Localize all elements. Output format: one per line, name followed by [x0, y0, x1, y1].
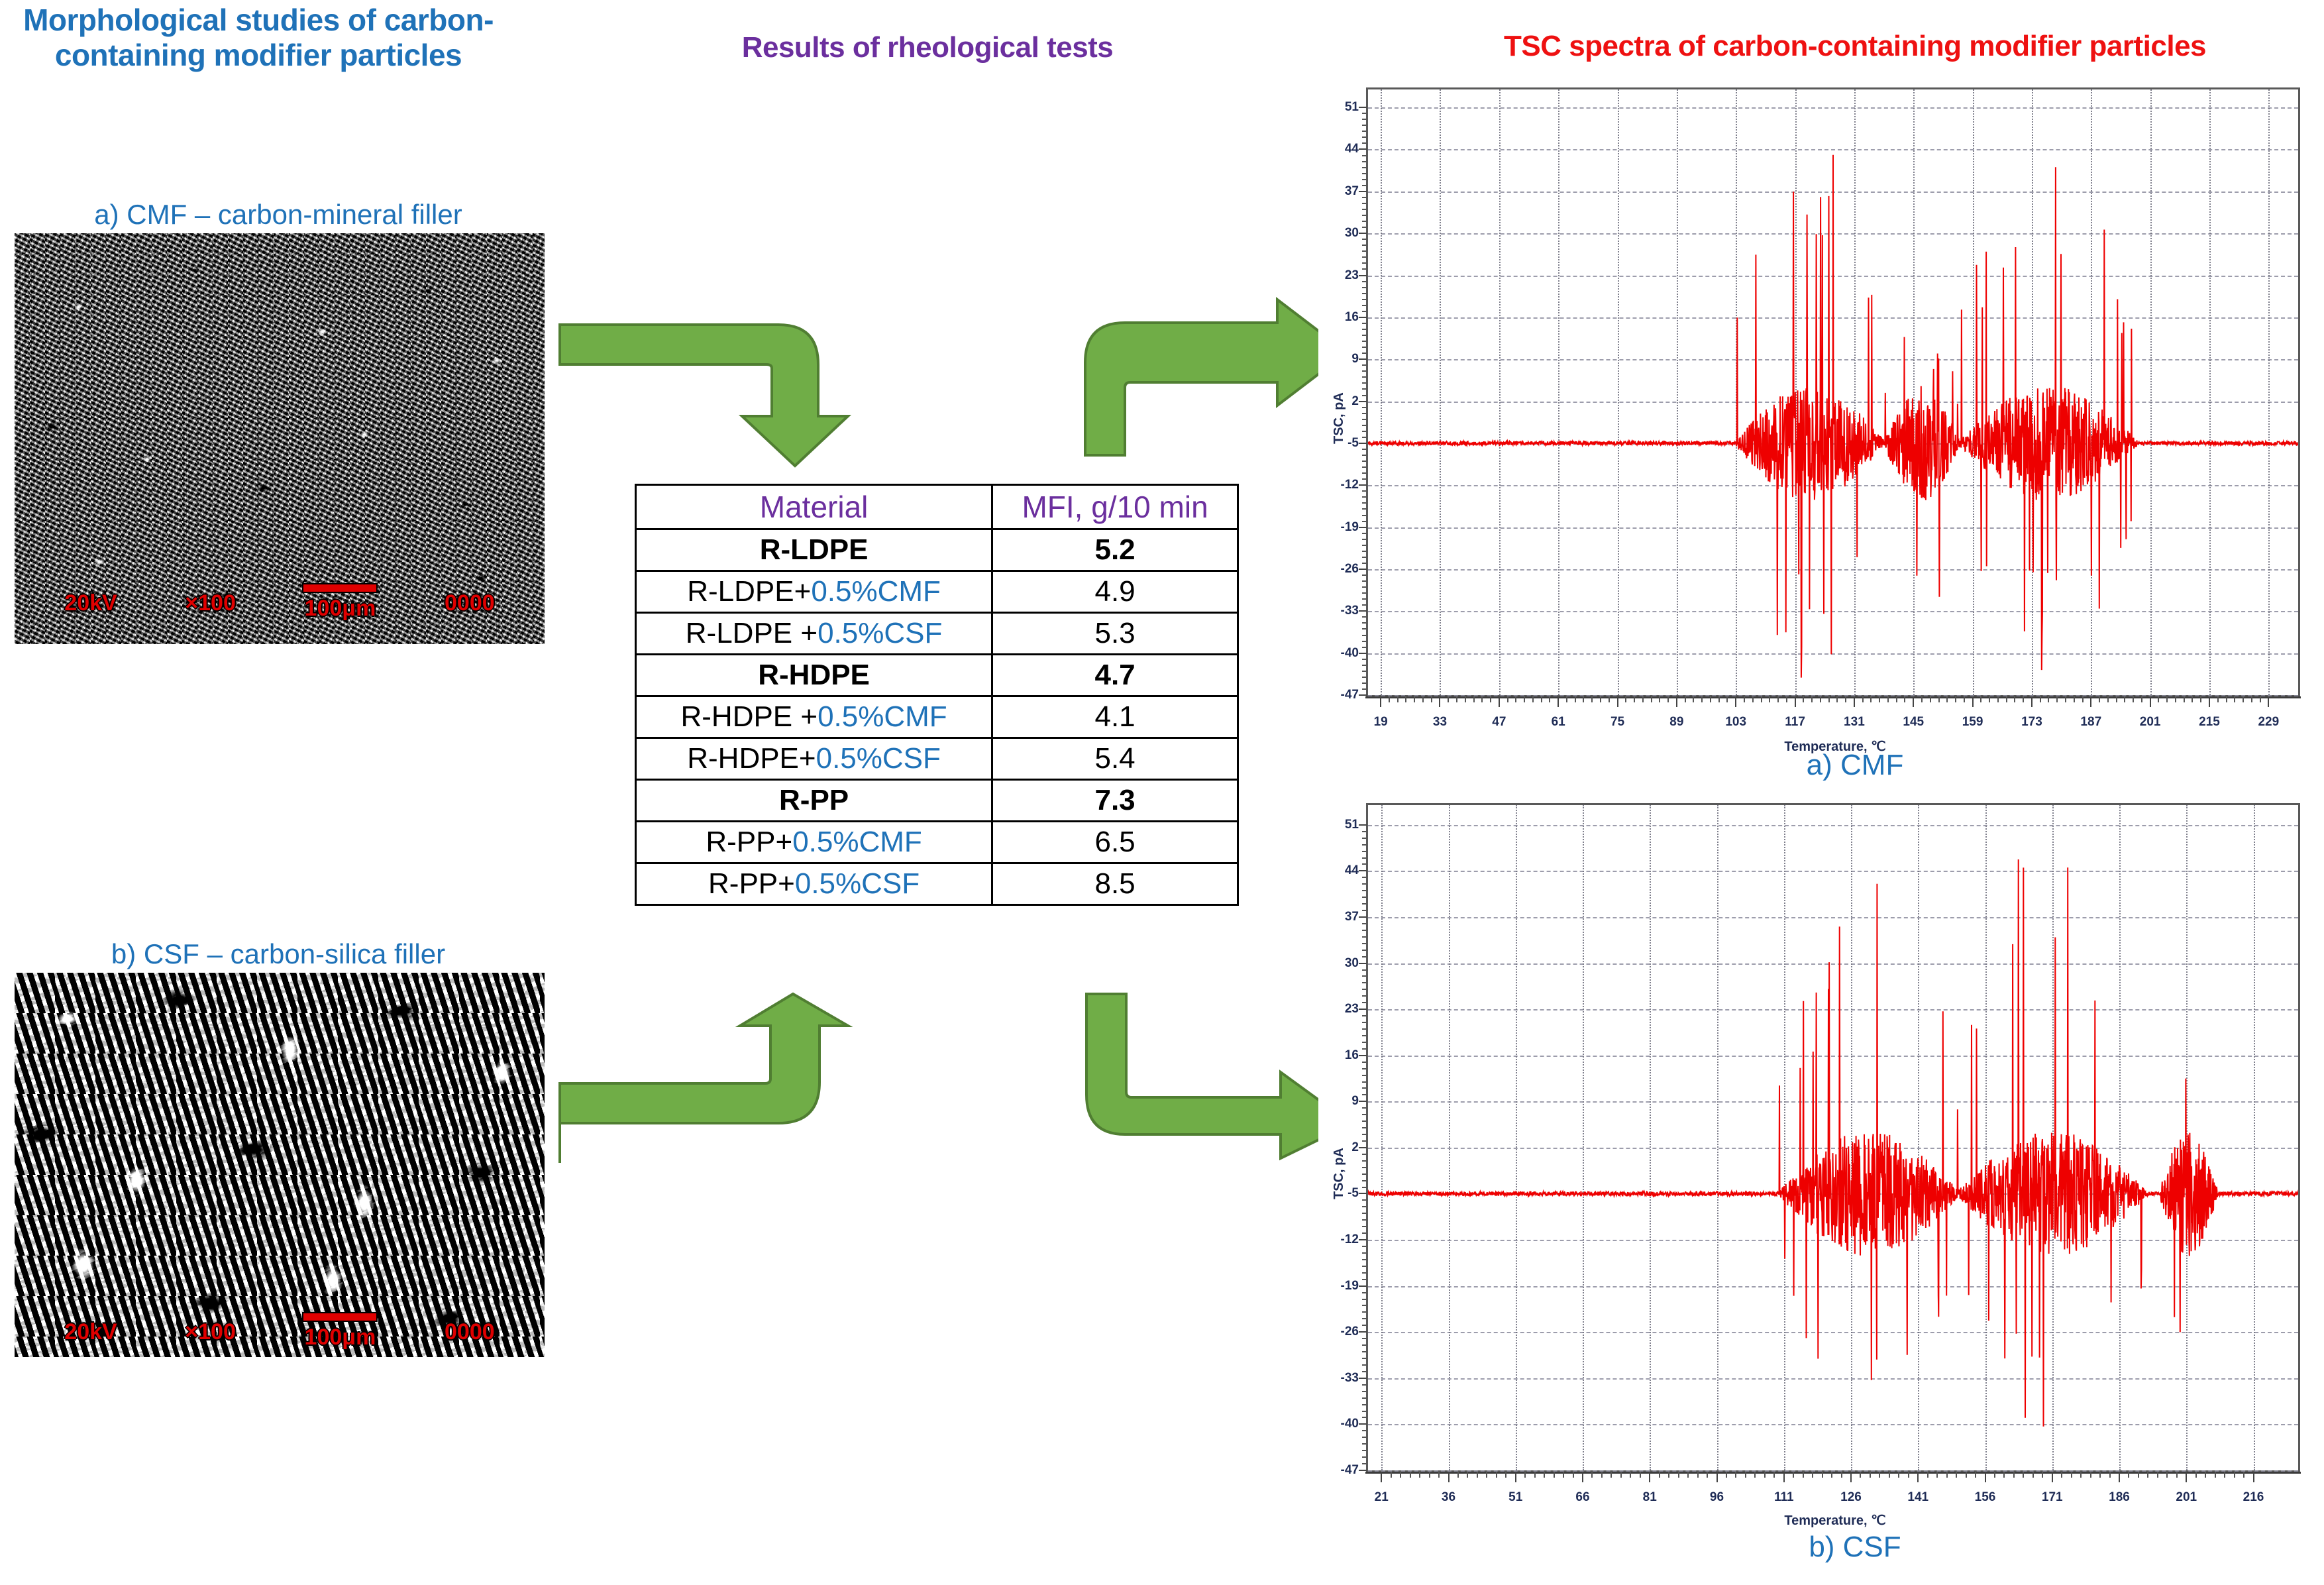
- y-tick-mark: [1359, 963, 1367, 964]
- arrow-table-to-cmf-spectrum: [1079, 300, 1350, 459]
- x-minor-tick: [2251, 696, 2252, 702]
- y-tick-label: 2: [1351, 394, 1359, 409]
- sem-magnification-label: ×100: [185, 1319, 236, 1345]
- x-tick-label: 126: [1840, 1490, 1862, 1505]
- y-tick-label: -40: [1341, 1417, 1359, 1431]
- x-minor-tick: [1422, 696, 1424, 702]
- y-tick-label: 37: [1345, 184, 1359, 199]
- x-minor-tick: [1745, 1472, 1746, 1478]
- x-minor-tick: [2013, 1472, 2015, 1478]
- y-minor-tick: [1362, 496, 1367, 498]
- y-minor-tick: [1362, 245, 1367, 246]
- x-minor-tick: [1431, 696, 1432, 702]
- cell-material: R-PP+0.5%CSF: [636, 863, 992, 905]
- cell-mfi-value: 8.5: [992, 863, 1238, 905]
- x-minor-tick: [2065, 696, 2066, 702]
- table-row: R-LDPE5.2: [636, 529, 1238, 571]
- x-minor-tick: [2040, 696, 2041, 702]
- y-minor-tick: [1362, 1107, 1367, 1109]
- x-minor-tick: [1429, 1472, 1430, 1478]
- x-minor-tick: [1904, 696, 1905, 702]
- x-tick-mark: [1783, 1472, 1785, 1482]
- x-tick-mark: [1649, 1472, 1650, 1482]
- y-minor-tick: [1362, 1252, 1367, 1254]
- y-minor-tick: [1362, 1371, 1367, 1372]
- y-tick-label: -5: [1347, 1186, 1359, 1201]
- y-minor-tick: [1362, 1311, 1367, 1313]
- x-minor-tick: [2107, 696, 2109, 702]
- x-tick-mark: [2031, 696, 2033, 707]
- x-minor-tick: [1414, 696, 1415, 702]
- y-minor-tick: [1362, 515, 1367, 516]
- x-tick-mark: [1439, 696, 1440, 707]
- y-minor-tick: [1362, 1075, 1367, 1076]
- x-minor-tick: [1726, 696, 1728, 702]
- y-tick-mark: [1359, 694, 1367, 696]
- x-minor-tick: [1465, 696, 1466, 702]
- table-row: R-HDPE +0.5%CMF4.1: [636, 696, 1238, 738]
- y-tick-mark: [1359, 569, 1367, 570]
- y-minor-tick: [1362, 323, 1367, 324]
- y-minor-tick: [1362, 1266, 1367, 1267]
- plot-frame-cmf: 51443730231692-5-12-19-26-33-40-47 19334…: [1366, 87, 2300, 697]
- y-tick-mark: [1359, 870, 1367, 871]
- x-minor-tick: [2234, 1472, 2235, 1478]
- x-tick-label: 117: [1785, 715, 1805, 730]
- x-minor-tick: [1870, 1472, 1871, 1478]
- x-tick-label: 216: [2243, 1490, 2264, 1505]
- y-minor-tick: [1362, 844, 1367, 846]
- x-minor-tick: [1946, 1472, 1948, 1478]
- x-minor-tick: [2147, 1472, 2148, 1478]
- table-row: R-LDPE+0.5%CMF4.9: [636, 571, 1238, 613]
- y-minor-tick: [1362, 989, 1367, 990]
- material-base: R-LDPE +: [686, 617, 818, 649]
- y-minor-tick: [1362, 119, 1367, 120]
- x-minor-tick: [2116, 696, 2117, 702]
- y-tick-label: 37: [1345, 910, 1359, 924]
- x-tick-label: 229: [2258, 715, 2279, 730]
- y-minor-tick: [1362, 1358, 1367, 1359]
- y-minor-tick: [1362, 671, 1367, 672]
- x-tick-label: 21: [1375, 1490, 1389, 1505]
- y-minor-tick: [1362, 281, 1367, 282]
- y-tick-label: -12: [1341, 478, 1359, 492]
- x-minor-tick: [1707, 1472, 1708, 1478]
- x-minor-tick: [1410, 1472, 1411, 1478]
- x-minor-tick: [1896, 696, 1897, 702]
- y-minor-tick: [1362, 419, 1367, 420]
- sem-voltage-label: 20kV: [64, 590, 117, 616]
- table-row: R-HDPE4.7: [636, 655, 1238, 696]
- y-minor-tick: [1362, 125, 1367, 126]
- y-tick-label: 23: [1345, 268, 1359, 283]
- x-tick-label: 187: [2080, 715, 2101, 730]
- x-minor-tick: [2260, 696, 2261, 702]
- y-minor-tick: [1362, 1338, 1367, 1339]
- x-tick-label: 159: [1962, 715, 1983, 730]
- table-row: R-PP+0.5%CSF8.5: [636, 863, 1238, 905]
- x-tick-mark: [2253, 1472, 2254, 1482]
- y-minor-tick: [1362, 1028, 1367, 1030]
- table-row: R-HDPE+0.5%CSF5.4: [636, 738, 1238, 780]
- sem-image-cmf: 20kV ×100 100μm 0000: [15, 233, 545, 644]
- y-minor-tick: [1362, 305, 1367, 306]
- x-minor-tick: [2166, 1472, 2168, 1478]
- sem-scalebar-group: 100μm: [303, 584, 376, 622]
- x-minor-tick: [2099, 696, 2100, 702]
- x-minor-tick: [1659, 1472, 1660, 1478]
- material-base: R-LDPE: [760, 533, 869, 566]
- x-minor-tick: [1400, 1472, 1401, 1478]
- x-minor-tick: [1544, 1472, 1545, 1478]
- material-additive: 0.5%CSF: [795, 867, 920, 900]
- x-tick-mark: [1913, 696, 1914, 707]
- y-minor-tick: [1362, 113, 1367, 114]
- material-base: R-HDPE +: [680, 700, 818, 733]
- x-minor-tick: [1625, 696, 1626, 702]
- material-base: R-PP+: [706, 826, 792, 858]
- y-minor-tick: [1362, 1404, 1367, 1405]
- y-tick-label: 16: [1345, 1048, 1359, 1063]
- cell-material: R-PP: [636, 780, 992, 822]
- y-minor-tick: [1362, 683, 1367, 684]
- x-minor-tick: [2234, 696, 2235, 702]
- y-minor-tick: [1362, 950, 1367, 951]
- x-minor-tick: [1448, 696, 1449, 702]
- y-minor-tick: [1362, 395, 1367, 396]
- y-tick-mark: [1359, 610, 1367, 612]
- y-minor-tick: [1362, 1199, 1367, 1201]
- x-minor-tick: [1956, 1472, 1957, 1478]
- x-minor-tick: [1591, 1472, 1593, 1478]
- y-minor-tick: [1362, 431, 1367, 432]
- y-minor-tick: [1362, 185, 1367, 186]
- x-tick-mark: [2268, 696, 2269, 707]
- x-tick-mark: [1558, 696, 1559, 707]
- x-minor-tick: [1507, 696, 1508, 702]
- x-minor-tick: [2133, 696, 2134, 702]
- tsc-trace-path: [1368, 89, 2298, 695]
- x-minor-tick: [2166, 696, 2168, 702]
- x-minor-tick: [1486, 1472, 1487, 1478]
- y-minor-tick: [1362, 1114, 1367, 1115]
- x-tick-label: 201: [2176, 1490, 2197, 1505]
- x-minor-tick: [1845, 696, 1846, 702]
- x-minor-tick: [2023, 696, 2024, 702]
- y-minor-tick: [1362, 353, 1367, 354]
- y-tick-label: 9: [1351, 352, 1359, 366]
- y-minor-tick: [1362, 407, 1367, 408]
- x-minor-tick: [1591, 696, 1593, 702]
- caption-csf-spectrum: b) CSF: [1404, 1531, 2305, 1564]
- x-tick-mark: [1676, 696, 1677, 707]
- sem-texture-cmf: [15, 233, 545, 644]
- y-minor-tick: [1362, 1015, 1367, 1016]
- y-minor-tick: [1362, 197, 1367, 198]
- mfi-results-table: Material MFI, g/10 min R-LDPE5.2R-LDPE+0…: [635, 484, 1239, 906]
- x-minor-tick: [1467, 1472, 1468, 1478]
- y-minor-tick: [1362, 604, 1367, 606]
- x-minor-tick: [1773, 1472, 1775, 1478]
- y-tick-mark: [1359, 1239, 1367, 1240]
- material-base: R-HDPE: [758, 659, 870, 691]
- plot-frame-csf: 51443730231692-5-12-19-26-33-40-47 21365…: [1366, 803, 2300, 1472]
- x-minor-tick: [1793, 1472, 1794, 1478]
- y-minor-tick: [1362, 1417, 1367, 1418]
- material-base: R-LDPE+: [687, 575, 811, 608]
- y-minor-tick: [1362, 647, 1367, 648]
- cell-mfi-value: 7.3: [992, 780, 1238, 822]
- y-minor-tick: [1362, 287, 1367, 288]
- y-minor-tick: [1362, 688, 1367, 690]
- sem-scalebar-group: 100μm: [303, 1313, 376, 1350]
- y-minor-tick: [1362, 910, 1367, 911]
- x-minor-tick: [1822, 1472, 1823, 1478]
- y-minor-tick: [1362, 521, 1367, 522]
- x-minor-tick: [1685, 696, 1686, 702]
- x-minor-tick: [1541, 696, 1542, 702]
- y-minor-tick: [1362, 659, 1367, 660]
- x-minor-tick: [1668, 1472, 1669, 1478]
- y-minor-tick: [1362, 574, 1367, 576]
- y-minor-tick: [1362, 580, 1367, 582]
- sem-overlay-csf: 20kV ×100 100μm 0000: [15, 1313, 545, 1350]
- y-tick-label: -26: [1341, 562, 1359, 576]
- x-minor-tick: [1601, 1472, 1603, 1478]
- y-minor-tick: [1362, 975, 1367, 977]
- y-tick-label: -12: [1341, 1232, 1359, 1247]
- x-minor-tick: [1575, 696, 1576, 702]
- y-tick-label: 2: [1351, 1140, 1359, 1155]
- y-tick-label: 44: [1345, 863, 1359, 878]
- x-minor-tick: [1620, 1472, 1622, 1478]
- y-minor-tick: [1362, 1035, 1367, 1036]
- x-tick-label: 47: [1492, 715, 1506, 730]
- x-minor-tick: [1583, 696, 1584, 702]
- page-title-morphology: Morphological studies of carbon-containi…: [13, 3, 503, 74]
- y-tick-label: -47: [1341, 1463, 1359, 1478]
- x-tick-mark: [2052, 1472, 2053, 1482]
- y-minor-tick: [1362, 370, 1367, 372]
- y-tick-label: 51: [1345, 100, 1359, 115]
- y-minor-tick: [1362, 1094, 1367, 1095]
- y-tick-label: -19: [1341, 520, 1359, 535]
- y-minor-tick: [1362, 1232, 1367, 1234]
- x-minor-tick: [1456, 696, 1457, 702]
- cell-material: R-LDPE +0.5%CSF: [636, 613, 992, 655]
- sem-magnification-label: ×100: [185, 590, 236, 616]
- x-minor-tick: [1964, 696, 1965, 702]
- cell-mfi-value: 5.4: [992, 738, 1238, 780]
- tsc-trace-path: [1368, 805, 2298, 1470]
- x-minor-tick: [1777, 696, 1779, 702]
- x-minor-tick: [1898, 1472, 1899, 1478]
- x-minor-tick: [1667, 696, 1669, 702]
- arrow-csf-to-table: [560, 994, 851, 1166]
- x-tick-mark: [1850, 1472, 1852, 1482]
- slide-canvas: Morphological studies of carbon-containi…: [0, 0, 2324, 1585]
- x-minor-tick: [1389, 696, 1390, 702]
- x-minor-tick: [1701, 696, 1703, 702]
- y-minor-tick: [1362, 364, 1367, 366]
- y-minor-tick: [1362, 335, 1367, 336]
- x-tick-label: 103: [1725, 715, 1746, 730]
- y-minor-tick: [1362, 1042, 1367, 1043]
- y-tick-mark: [1359, 275, 1367, 276]
- table-row: R-LDPE +0.5%CSF5.3: [636, 613, 1238, 655]
- x-tick-label: 61: [1552, 715, 1565, 730]
- y-tick-mark: [1359, 233, 1367, 234]
- y-minor-tick: [1362, 677, 1367, 678]
- x-minor-tick: [2192, 696, 2193, 702]
- x-minor-tick: [1735, 1472, 1736, 1478]
- sem-scale-label: 100μm: [305, 1325, 376, 1350]
- y-minor-tick: [1362, 209, 1367, 210]
- x-minor-tick: [2042, 1472, 2043, 1478]
- y-tick-mark: [1359, 1285, 1367, 1287]
- x-minor-tick: [1812, 1472, 1813, 1478]
- x-minor-tick: [2138, 1472, 2139, 1478]
- y-minor-tick: [1362, 142, 1367, 144]
- x-minor-tick: [2200, 696, 2201, 702]
- x-tick-mark: [2209, 696, 2210, 707]
- y-tick-label: -5: [1347, 436, 1359, 451]
- x-minor-tick: [1889, 1472, 1890, 1478]
- y-minor-tick: [1362, 890, 1367, 891]
- y-minor-tick: [1362, 1384, 1367, 1386]
- y-minor-tick: [1362, 1443, 1367, 1445]
- y-minor-tick: [1362, 831, 1367, 832]
- sem-texture-csf: [15, 973, 545, 1357]
- y-tick-mark: [1359, 148, 1367, 150]
- x-tick-mark: [1499, 696, 1500, 707]
- tsc-chart-csf: 51443730231692-5-12-19-26-33-40-47 21365…: [1318, 789, 2312, 1517]
- x-tick-label: 145: [1903, 715, 1924, 730]
- x-minor-tick: [2099, 1472, 2101, 1478]
- cell-mfi-value: 6.5: [992, 822, 1238, 863]
- x-tick-label: 156: [1975, 1490, 1996, 1505]
- x-minor-tick: [1534, 1472, 1536, 1478]
- y-minor-tick: [1362, 1002, 1367, 1003]
- cell-mfi-value: 4.1: [992, 696, 1238, 738]
- x-minor-tick: [2157, 1472, 2158, 1478]
- y-minor-tick: [1362, 293, 1367, 294]
- x-tick-label: 36: [1442, 1490, 1455, 1505]
- y-tick-label: -47: [1341, 688, 1359, 702]
- tsc-trace-cmf: [1368, 89, 2298, 695]
- y-tick-mark: [1359, 1147, 1367, 1148]
- y-minor-tick: [1362, 628, 1367, 629]
- y-minor-tick: [1362, 1272, 1367, 1274]
- x-tick-mark: [1795, 696, 1796, 707]
- x-minor-tick: [1955, 696, 1956, 702]
- x-tick-label: 171: [2042, 1490, 2063, 1505]
- y-minor-tick: [1362, 1411, 1367, 1412]
- y-minor-tick: [1362, 461, 1367, 462]
- y-minor-tick: [1362, 1391, 1367, 1392]
- x-tick-mark: [1735, 696, 1736, 707]
- x-tick-label: 33: [1433, 715, 1447, 730]
- y-minor-tick: [1362, 969, 1367, 971]
- y-axis-label-cmf: TSC, pA: [1332, 392, 1347, 444]
- x-minor-tick: [2003, 1472, 2005, 1478]
- material-base: R-PP+: [708, 867, 795, 900]
- y-minor-tick: [1362, 1206, 1367, 1207]
- y-tick-label: 51: [1345, 818, 1359, 832]
- y-minor-tick: [1362, 472, 1367, 474]
- y-minor-tick: [1362, 1219, 1367, 1221]
- y-minor-tick: [1362, 851, 1367, 852]
- y-minor-tick: [1362, 956, 1367, 957]
- y-tick-mark: [1359, 317, 1367, 318]
- tsc-trace-csf: [1368, 805, 2298, 1470]
- y-tick-label: -33: [1341, 604, 1359, 618]
- material-base: R-HDPE+: [687, 742, 816, 775]
- x-minor-tick: [1921, 696, 1923, 702]
- x-tick-label: 75: [1611, 715, 1624, 730]
- material-additive: 0.5%CMF: [818, 700, 947, 733]
- x-minor-tick: [2215, 1472, 2216, 1478]
- y-tick-mark: [1359, 1101, 1367, 1102]
- y-minor-tick: [1362, 425, 1367, 426]
- x-minor-tick: [1803, 696, 1804, 702]
- y-minor-tick: [1362, 131, 1367, 132]
- x-minor-tick: [1887, 696, 1889, 702]
- y-tick-mark: [1359, 1470, 1367, 1471]
- x-tick-mark: [1381, 1472, 1382, 1482]
- y-minor-tick: [1362, 268, 1367, 270]
- y-minor-tick: [1362, 838, 1367, 839]
- x-minor-tick: [2128, 1472, 2129, 1478]
- page-title-tsc: TSC spectra of carbon-containing modifie…: [1418, 29, 2292, 63]
- x-tick-mark: [2150, 696, 2151, 707]
- x-minor-tick: [1820, 696, 1821, 702]
- cell-mfi-value: 4.9: [992, 571, 1238, 613]
- y-tick-mark: [1359, 1378, 1367, 1379]
- y-minor-tick: [1362, 1351, 1367, 1352]
- y-minor-tick: [1362, 437, 1367, 438]
- y-tick-label: 16: [1345, 310, 1359, 325]
- y-minor-tick: [1362, 635, 1367, 636]
- x-tick-label: 81: [1643, 1490, 1657, 1505]
- x-minor-tick: [1630, 1472, 1631, 1478]
- x-minor-tick: [1549, 696, 1550, 702]
- x-minor-tick: [1803, 1472, 1804, 1478]
- y-minor-tick: [1362, 1226, 1367, 1227]
- x-minor-tick: [2090, 1472, 2091, 1478]
- x-minor-tick: [2175, 696, 2176, 702]
- y-minor-tick: [1362, 215, 1367, 216]
- column-header-material: Material: [636, 485, 992, 529]
- y-minor-tick: [1362, 539, 1367, 540]
- x-tick-label: 173: [2021, 715, 2042, 730]
- x-tick-mark: [1582, 1472, 1583, 1482]
- y-tick-label: -33: [1341, 1371, 1359, 1386]
- material-additive: 0.5%CMF: [811, 575, 941, 608]
- x-minor-tick: [1841, 1472, 1842, 1478]
- y-minor-tick: [1362, 1299, 1367, 1300]
- x-minor-tick: [1477, 1472, 1478, 1478]
- y-minor-tick: [1362, 1081, 1367, 1083]
- cell-material: R-PP+0.5%CMF: [636, 822, 992, 863]
- x-minor-tick: [1764, 1472, 1766, 1478]
- cell-material: R-HDPE+0.5%CSF: [636, 738, 992, 780]
- y-tick-mark: [1359, 653, 1367, 654]
- x-tick-mark: [2119, 1472, 2120, 1482]
- y-minor-tick: [1362, 1279, 1367, 1280]
- x-minor-tick: [2158, 696, 2159, 702]
